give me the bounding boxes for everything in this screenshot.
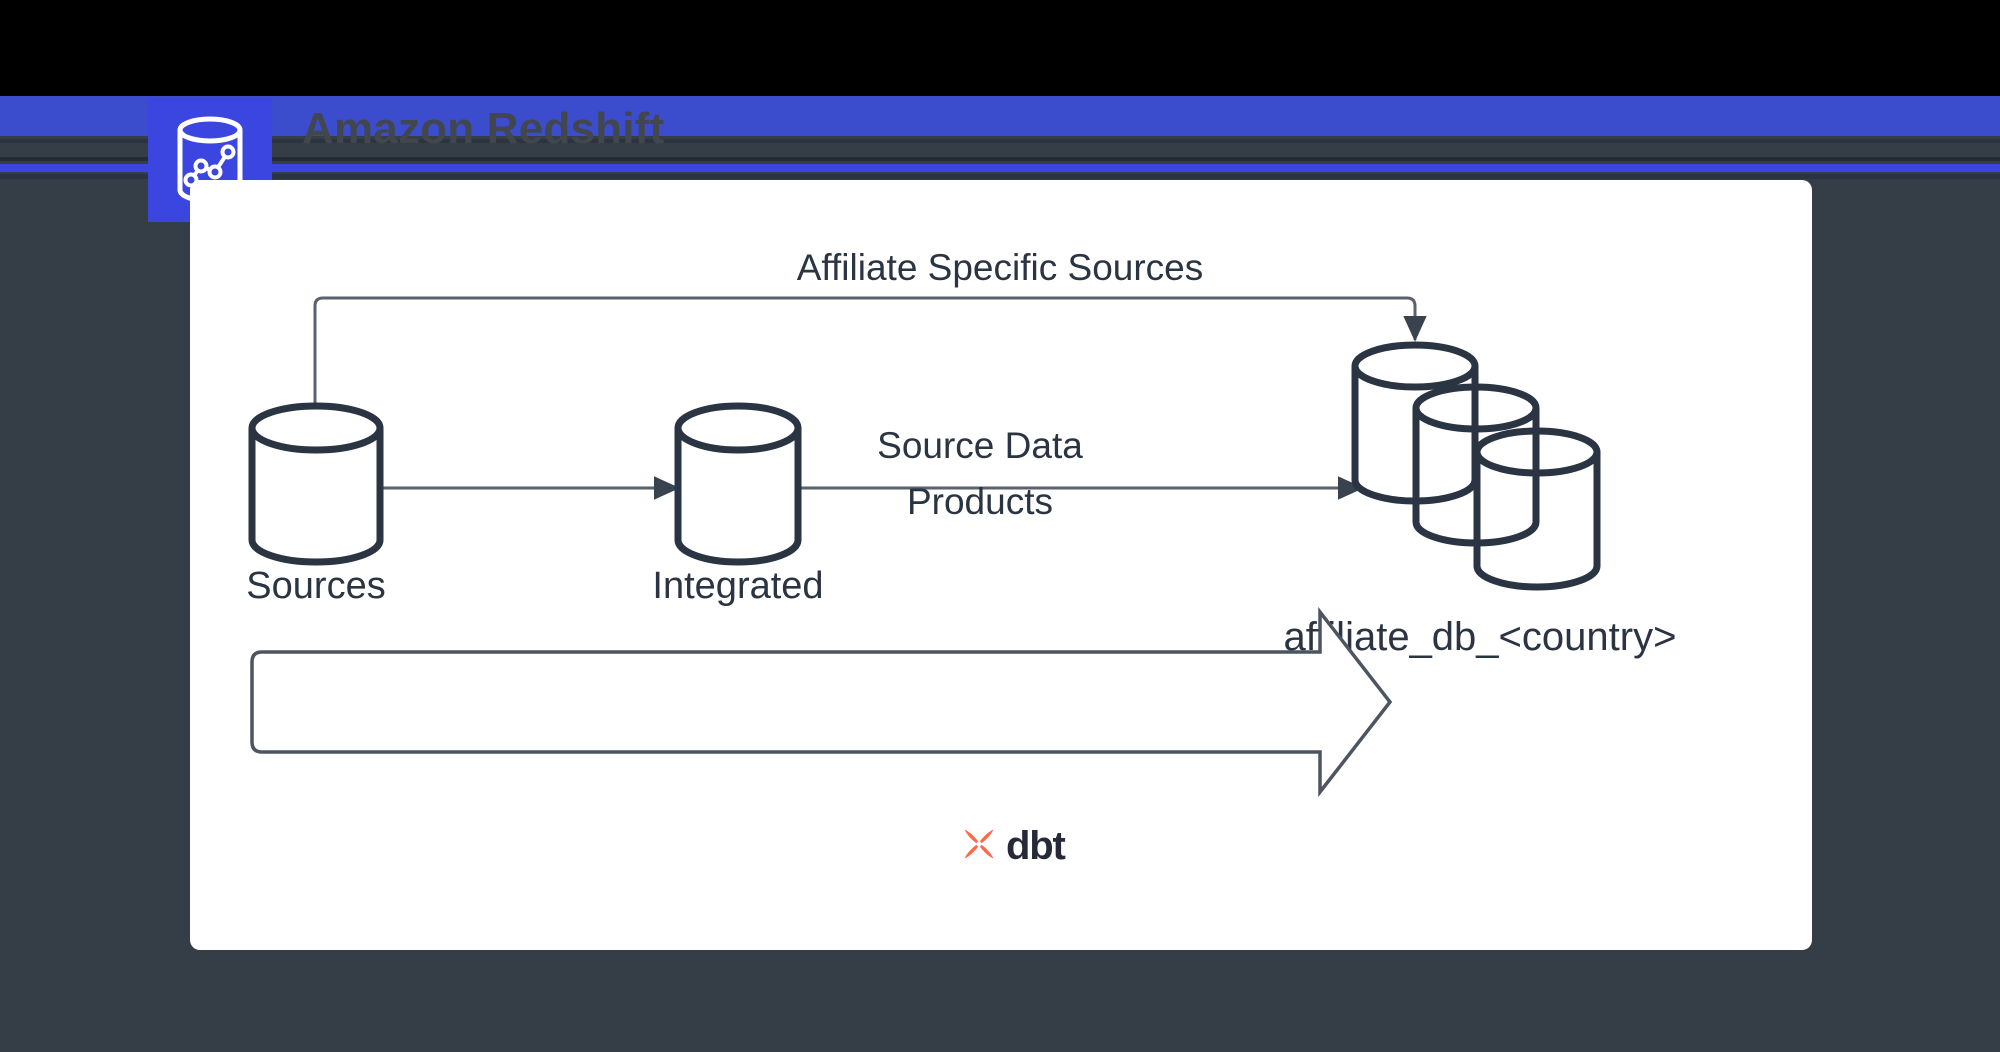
node-label-sources: Sources — [246, 565, 385, 607]
dbt-logo: dbt — [958, 825, 1065, 867]
divider-line-3 — [0, 174, 2000, 179]
node-integrated-cylinder[interactable] — [678, 406, 798, 562]
node-sources-cylinder[interactable] — [252, 406, 380, 562]
dbt-wordmark: dbt — [1006, 826, 1065, 866]
edge-label-source-data: Source Data — [877, 425, 1083, 466]
node-affiliate-cylinder-stack[interactable] — [1355, 345, 1597, 587]
edge-label-affiliate-specific-sources: Affiliate Specific Sources — [797, 247, 1204, 288]
diagram-card: Affiliate Specific Sources Source Data P… — [190, 180, 1812, 950]
page-title: Amazon Redshift — [302, 104, 664, 154]
edge-sources-to-affiliate — [315, 298, 1415, 410]
dbt-banner-arrow[interactable] — [252, 612, 1390, 792]
edge-label-products: Products — [907, 481, 1053, 522]
header-blue-band — [0, 96, 2000, 136]
accent-blue-line — [0, 164, 2000, 172]
divider-line-1 — [0, 139, 2000, 143]
screenshot-root: Amazon Redshift Affiliate Specific Sourc… — [0, 0, 2000, 1052]
dbt-x-icon — [958, 825, 1000, 867]
divider-line-2 — [0, 157, 2000, 161]
node-label-integrated: Integrated — [652, 565, 823, 607]
